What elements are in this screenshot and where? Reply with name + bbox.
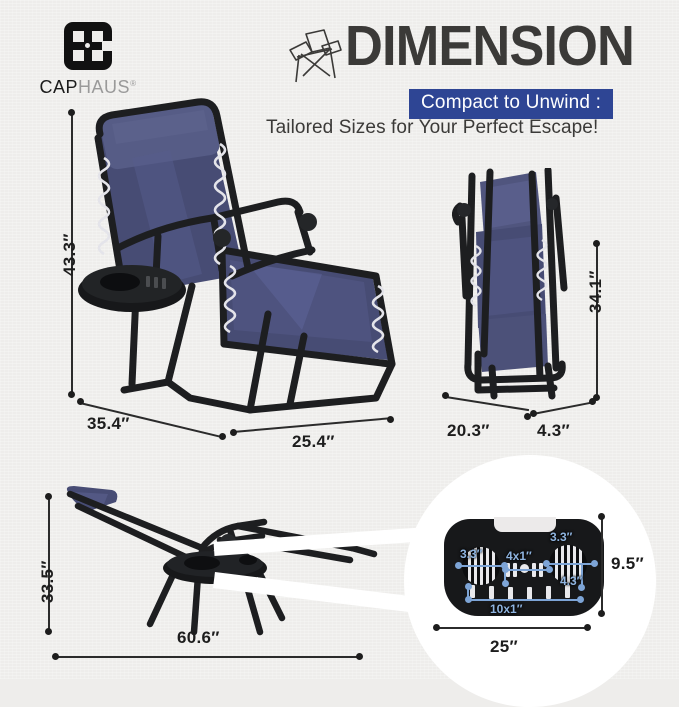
caphaus-logo-icon: [64, 22, 112, 70]
reclined-length-dot-start: [52, 653, 59, 660]
reclined-height-dot-bottom: [45, 628, 52, 635]
tray-width-dot-start: [433, 624, 440, 631]
cup-right-measure-line: [546, 563, 594, 565]
brand-name-light: HAUS: [78, 77, 130, 97]
folded-depth-dot-end: [589, 398, 596, 405]
upright-chair-view: [72, 98, 402, 416]
tray-height-label: 9.5″: [611, 554, 644, 574]
upright-height-label: 43.3″: [60, 233, 80, 276]
brand-wordmark: CAPHAUS®: [33, 77, 143, 98]
tray-width-line: [436, 627, 588, 629]
upright-height-dot-top: [68, 109, 75, 116]
chair-line-icon: [286, 24, 344, 86]
reclined-length-dot-end: [356, 653, 363, 660]
reclined-length-line: [55, 656, 360, 658]
tray-width-dot-end: [584, 624, 591, 631]
trademark-symbol: ®: [130, 79, 136, 88]
reclined-chair-view: [52, 484, 382, 644]
upright-width-label: 25.4″: [292, 432, 335, 452]
reclined-length-label: 60.6″: [177, 628, 220, 648]
phone-slot-label: 4x1″: [506, 549, 532, 563]
folded-height-dot-top: [593, 240, 600, 247]
tray-height-dot-bottom: [598, 610, 605, 617]
upright-depth-dot-start: [77, 398, 84, 405]
folded-height-line: [596, 243, 598, 398]
infographic-stage: CAPHAUS® DIMENSION Compact to Unwind : T…: [0, 0, 679, 679]
tray-width-label: 25″: [490, 637, 518, 657]
cup-right-label: 3.3″: [550, 530, 572, 544]
upright-depth-dot-end: [219, 433, 226, 440]
upright-width-line: [233, 417, 391, 432]
brand-logo: CAPHAUS®: [33, 22, 143, 98]
folded-depth-dot-start: [530, 410, 537, 417]
cup-left-measure-line: [458, 565, 504, 567]
bottom-slots-label: 10x1″: [490, 602, 522, 616]
banner-text: Compact to Unwind :: [421, 92, 601, 113]
slot-depth-label: 4.3″: [560, 574, 582, 588]
folded-width-dot-start: [442, 392, 449, 399]
page-title: DIMENSION: [345, 18, 634, 75]
folded-height-label: 34.1″: [586, 270, 606, 313]
upright-width-dot-end: [387, 416, 394, 423]
upright-height-dot-bottom: [68, 391, 75, 398]
folded-depth-line: [533, 402, 592, 415]
tray-magnified: 3.3″ 3.3″ 4x1″ 4.3″ 10x1″: [444, 519, 604, 616]
reclined-height-label: 33.5″: [38, 560, 58, 603]
folded-depth-label: 4.3″: [537, 421, 570, 441]
brand-name-bold: CAP: [40, 77, 79, 97]
upright-depth-label: 35.4″: [87, 414, 130, 434]
bottom-slots-measure-line: [468, 599, 580, 601]
cup-left-label: 3.3″: [460, 547, 482, 561]
upright-width-dot-start: [230, 429, 237, 436]
reclined-height-dot-top: [45, 493, 52, 500]
phone-slot-measure-line: [505, 569, 549, 571]
tray-height-dot-top: [598, 513, 605, 520]
tray-height-line: [601, 516, 603, 614]
folded-width-label: 20.3″: [447, 421, 490, 441]
side-tray: [78, 265, 186, 312]
folded-chair-view: [432, 168, 592, 400]
banner-tagline: Compact to Unwind :: [409, 89, 613, 119]
